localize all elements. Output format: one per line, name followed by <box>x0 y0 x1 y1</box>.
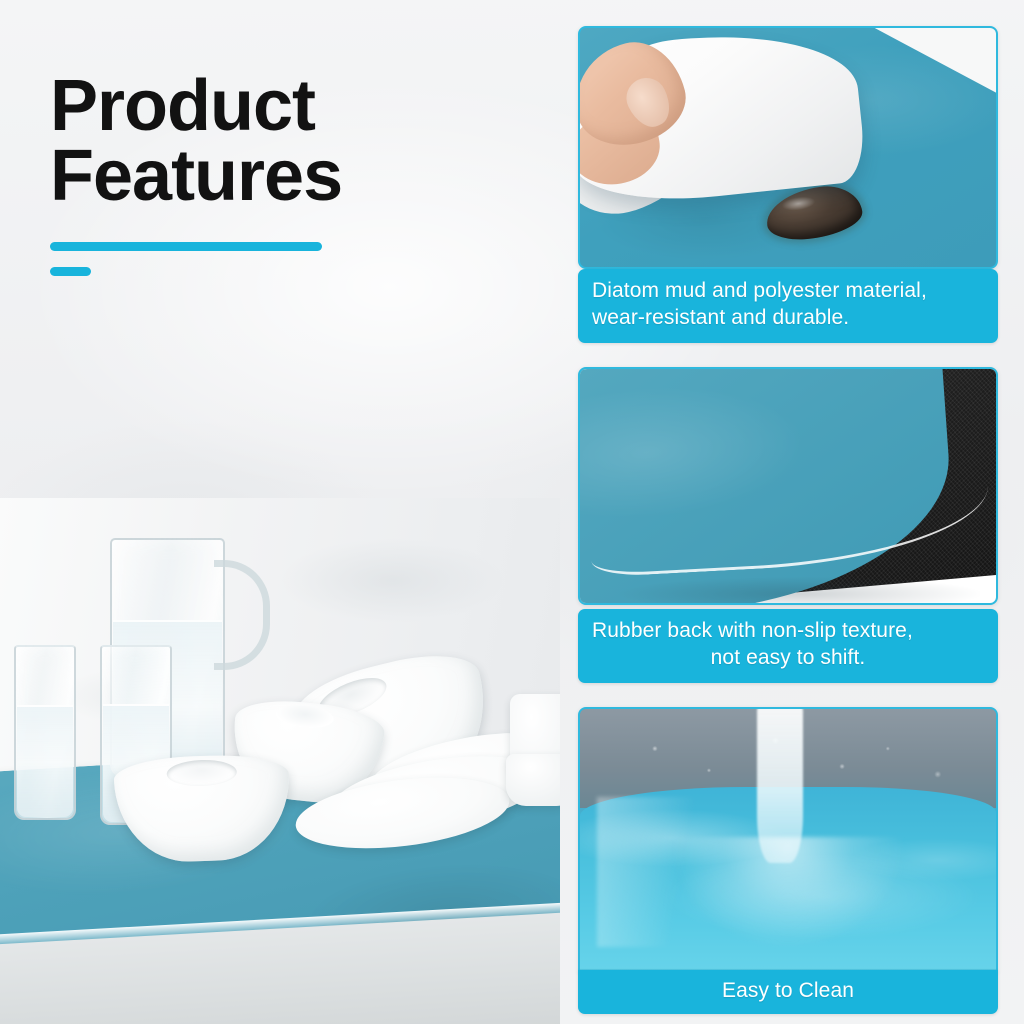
mat-shadow <box>620 577 980 605</box>
thumbnail <box>620 71 678 133</box>
title-underline-long <box>50 242 322 251</box>
bowl-foot <box>275 703 335 731</box>
water-rinsing-mat-photo <box>578 707 998 972</box>
title-line-2: Features <box>50 142 530 212</box>
feature-caption: Diatom mud and polyester material, wear-… <box>578 269 998 343</box>
feature-item: Diatom mud and polyester material, wear-… <box>578 26 998 343</box>
caption-line-1: Diatom mud and polyester material, <box>592 279 927 302</box>
title-line-1: Product <box>50 72 530 142</box>
glass-water <box>17 705 73 817</box>
feature-item: Rubber back with non-slip texture, not e… <box>578 367 998 683</box>
caption-line-1: Rubber back with non-slip texture, <box>592 619 913 642</box>
feature-caption: Rubber back with non-slip texture, not e… <box>578 609 998 683</box>
feature-item: Easy to Clean <box>578 707 998 1015</box>
mat-curled-showing-rubber-back-photo <box>578 367 998 605</box>
caption-line-1: Easy to Clean <box>722 979 854 1002</box>
lifestyle-photo <box>0 498 560 1024</box>
title-underline-short <box>50 267 91 276</box>
caption-line-2: wear-resistant and durable. <box>592 306 849 329</box>
page-title: Product Features <box>50 72 530 276</box>
water-splash <box>673 837 903 947</box>
feature-caption: Easy to Clean <box>578 970 998 1015</box>
product-features-infographic: Product Features <box>0 0 1024 1024</box>
caption-line-2: not easy to shift. <box>592 645 984 672</box>
drinking-glass-tall <box>14 645 76 820</box>
feature-list: Diatom mud and polyester material, wear-… <box>578 26 998 1014</box>
white-cup <box>506 754 560 806</box>
hand-lifting-mat-with-droplet-photo <box>578 26 998 269</box>
bowl-foot <box>166 759 237 787</box>
